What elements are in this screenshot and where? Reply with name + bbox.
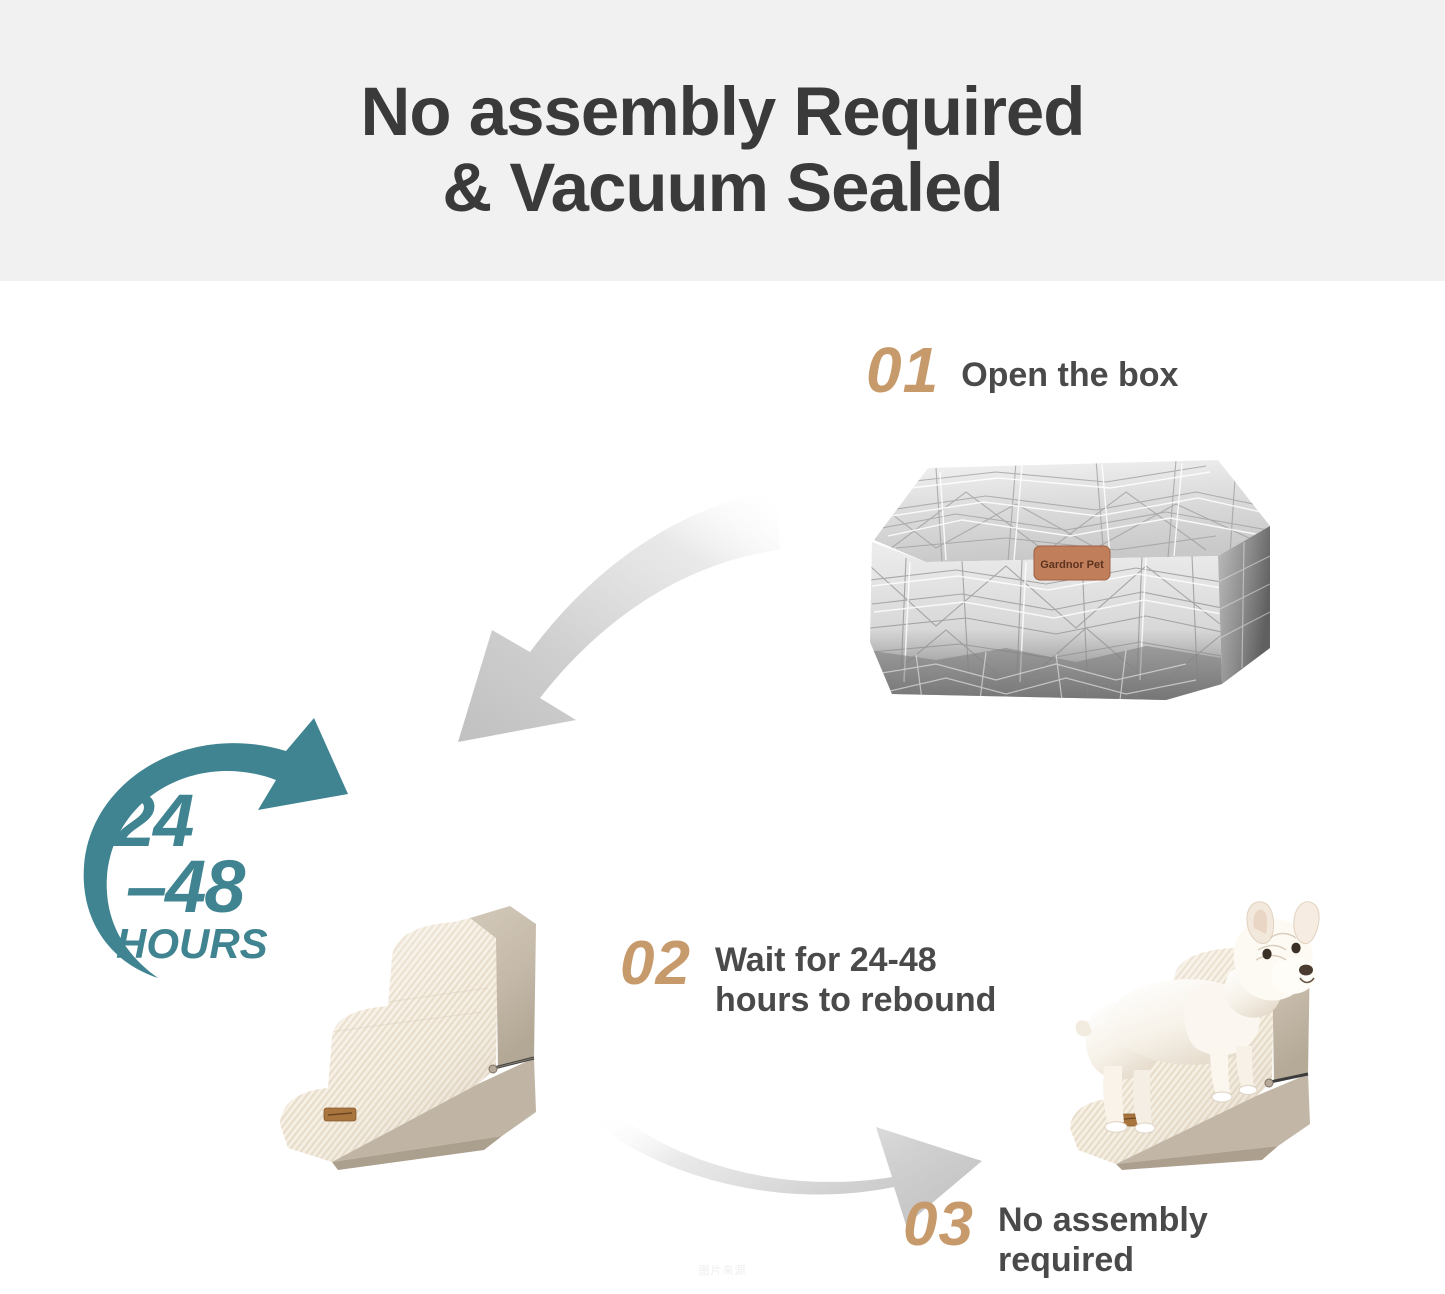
step-02-label: 02 Wait for 24-48 hours to rebound <box>620 935 996 1020</box>
vacuum-sealed-package-image: Gardnor Pet <box>866 452 1278 708</box>
step-01-label: 01 Open the box <box>866 341 1178 399</box>
curved-arrow-down-left-icon <box>380 470 780 750</box>
pet-stairs-illustration <box>272 862 612 1174</box>
step-01-text: Open the box <box>961 341 1178 395</box>
infographic-page: No assembly Required & Vacuum Sealed 01 … <box>0 0 1445 1294</box>
package-brand-label: Gardnor Pet <box>1034 546 1110 580</box>
page-title: No assembly Required & Vacuum Sealed <box>0 74 1445 226</box>
dog-nose <box>1299 965 1313 976</box>
dog-eye-right <box>1291 943 1300 954</box>
dog-on-stairs-illustration <box>1060 898 1386 1174</box>
dog-eye-left <box>1262 949 1271 960</box>
step-03-number: 03 <box>903 1196 974 1254</box>
rebounded-pet-stairs-image <box>272 862 612 1174</box>
step-02-text: Wait for 24-48 hours to rebound <box>715 935 996 1020</box>
step-01-number: 01 <box>866 341 939 399</box>
dog-on-pet-stairs-image <box>1060 898 1386 1174</box>
package-brand-text: Gardnor Pet <box>1040 559 1104 571</box>
arrow-step1-to-step2 <box>380 470 780 750</box>
watermark: 图片来源 <box>0 1262 1445 1278</box>
hours-line-1: 24 <box>114 790 334 852</box>
package-illustration: Gardnor Pet <box>866 452 1278 708</box>
step-02-number: 02 <box>620 935 691 993</box>
product-brand-tag <box>324 1108 356 1121</box>
